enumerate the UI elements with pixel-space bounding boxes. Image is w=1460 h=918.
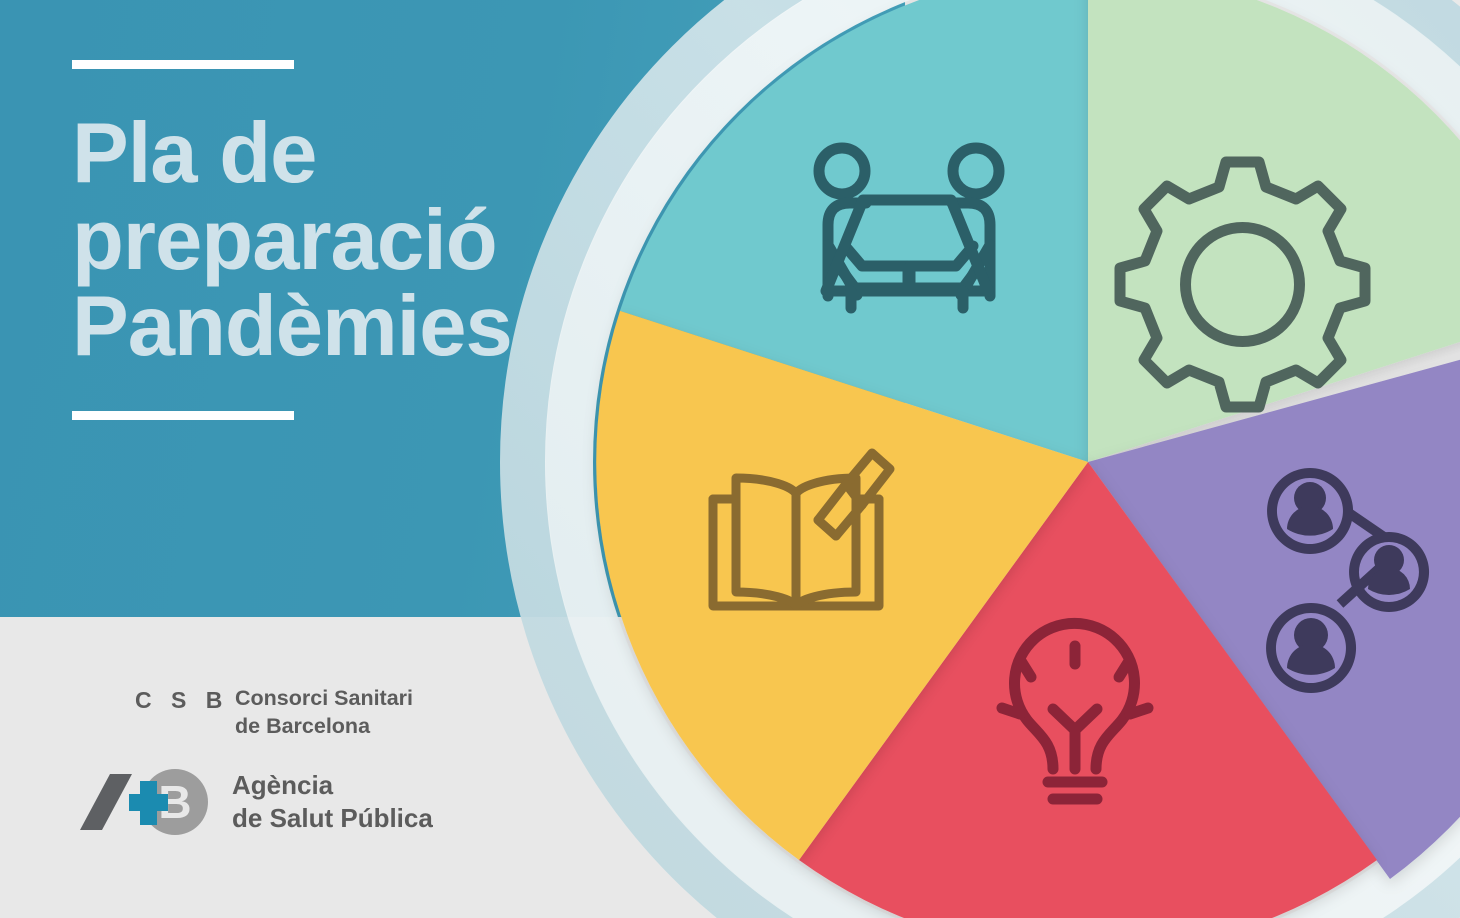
logo-consorci-sanitari-barcelona: C S B Consorci Sanitari de Barcelona xyxy=(135,685,413,740)
csb-name: Consorci Sanitari de Barcelona xyxy=(235,685,413,740)
asp-slash-shape xyxy=(80,774,132,830)
slice-processos[interactable] xyxy=(1088,0,1460,462)
page-title: Pla de preparació Pandèmies xyxy=(72,111,692,371)
asp-monogram-icon: B xyxy=(72,768,212,836)
gear-icon xyxy=(1120,162,1365,407)
asp-name: Agència de Salut Pública xyxy=(232,769,433,835)
csb-monogram: C S B xyxy=(135,685,235,714)
lightbulb-icon xyxy=(1002,623,1148,799)
people-network-icon xyxy=(1266,468,1429,693)
logo-agencia-salut-publica: B Agència de Salut Pública xyxy=(72,768,433,836)
bottom-divider-rule xyxy=(72,411,294,420)
title-block: Pla de preparació Pandèmies xyxy=(72,60,692,420)
top-divider-rule xyxy=(72,60,294,69)
slice-xarxa[interactable] xyxy=(1088,327,1460,880)
poster-canvas: Pla de preparació Pandèmies C S B Consor… xyxy=(0,0,1460,918)
